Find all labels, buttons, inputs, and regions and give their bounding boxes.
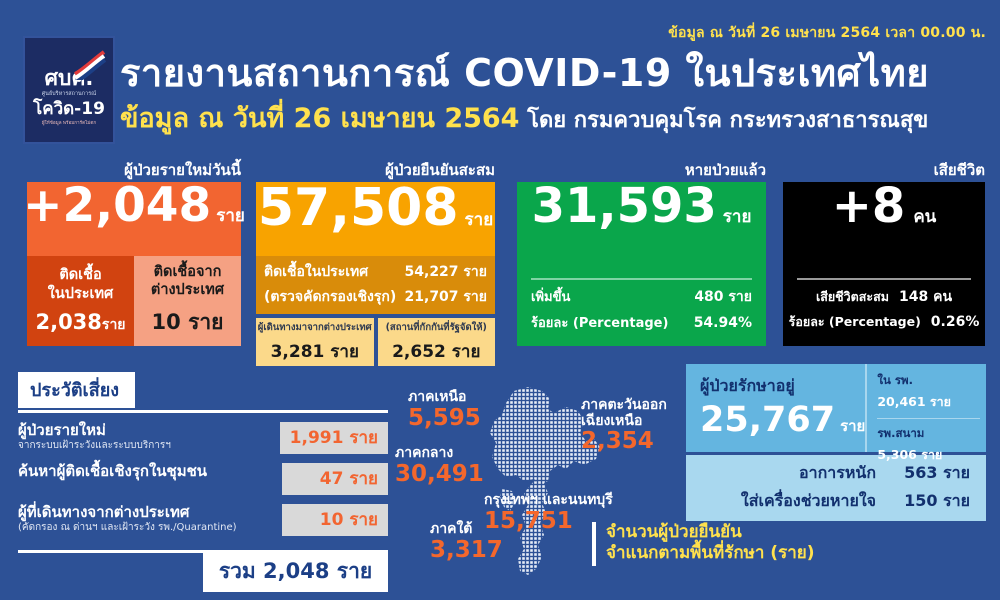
- treating-breakdown-label: ใน รพ.: [877, 372, 986, 390]
- treating-severe-value: 150 ราย: [892, 489, 970, 514]
- subtitle-source: โดย กรมควบคุมโรค กระทรวงสาธารณสุข: [519, 108, 928, 133]
- treating-heading: ผู้ป่วยรักษาอยู่: [700, 374, 865, 399]
- cumulative-rows: ติดเชื้อในประเทศ 54,227 ราย (ตรวจคัดกรอง…: [256, 256, 495, 314]
- risk-history-item-value: 10 ราย: [282, 504, 388, 536]
- deaths-row: เสียชีวิตสะสม 148 คน: [795, 286, 973, 308]
- risk-history-item-label: ค้นหาผู้ติดเชื้อเชิงรุกในชุมชน: [18, 463, 274, 480]
- treating-unit: ราย: [840, 414, 865, 438]
- cumulative-row: (ตรวจคัดกรองเชิงรุก) 21,707 ราย: [264, 286, 487, 308]
- risk-history-item: ผู้ที่เดินทางจากต่างประเทศ (คัดกรอง ณ ด่…: [18, 504, 388, 536]
- risk-history-item-label: ผู้ที่เดินทางจากต่างประเทศ: [18, 504, 274, 521]
- risk-history-item-sub: (คัดกรอง ณ ด่านฯ และเฝ้าระวัง รพ./Quaran…: [18, 522, 274, 534]
- new-cases-domestic: ติดเชื้อ ในประเทศ 2,038ราย: [27, 256, 134, 346]
- risk-history-top-divider: [18, 410, 388, 413]
- new-cases-domestic-value-wrap: 2,038ราย: [35, 310, 125, 336]
- recovered-value: 31,593: [532, 182, 717, 230]
- cumulative-row-label: (ตรวจคัดกรองเชิงรุก): [264, 286, 396, 308]
- cumulative-row-value: 54,227 ราย: [405, 261, 487, 283]
- treating-severe-row: อาการหนัก 563 ราย: [702, 461, 970, 486]
- treating-breakdown-label: รพ.สนาม: [877, 425, 986, 443]
- cumulative-unit: ราย: [465, 206, 494, 233]
- new-cases-imported-label-2: ต่างประเทศ: [151, 281, 224, 299]
- new-cases-domestic-value: 2,038: [35, 310, 101, 334]
- deaths-row-label: ร้อยละ (Percentage): [789, 312, 921, 332]
- risk-history-item-text: ผู้ที่เดินทางจากต่างประเทศ (คัดกรอง ณ ด่…: [18, 504, 282, 534]
- new-cases-domestic-unit: ราย: [102, 317, 126, 333]
- new-cases-domestic-label-1: ติดเชื้อ: [59, 266, 101, 284]
- risk-history-item-label: ผู้ป่วยรายใหม่: [18, 422, 272, 439]
- cumulative-row: ติดเชื้อในประเทศ 54,227 ราย: [264, 261, 487, 283]
- risk-history-item: ค้นหาผู้ติดเชื้อเชิงรุกในชุมชน 47 ราย: [18, 463, 388, 495]
- cumulative-row-label: ติดเชื้อในประเทศ: [264, 261, 368, 283]
- treating-panel: ผู้ป่วยรักษาอยู่ 25,767 ราย ใน รพ. 20,46…: [686, 364, 986, 521]
- risk-history-total: รวม 2,048 ราย: [203, 552, 388, 592]
- deaths-row-value: 0.26%: [931, 314, 980, 330]
- deaths-unit: คน: [913, 203, 936, 230]
- new-cases-value: +2,048: [23, 182, 211, 229]
- cumulative-sub-boxes: ผู้เดินทางมาจากต่างประเทศ 3,281 ราย (สถา…: [256, 318, 495, 366]
- region-bangkok-label: กรุงเทพฯ และนนทบุรี: [484, 493, 613, 509]
- region-northeast-label-2: เฉียงเหนือ: [581, 414, 667, 430]
- risk-history-item-text: ผู้ป่วยรายใหม่ จากระบบเฝ้าระวังและระบบบร…: [18, 422, 280, 452]
- page-title: รายงานสถานการณ์ COVID-19 ในประเทศไทย: [120, 42, 929, 103]
- risk-history-item-value: 47 ราย: [282, 463, 388, 495]
- recovered-row-label: เพิ่มขึ้น: [531, 286, 570, 307]
- region-south: ภาคใต้ 3,317: [430, 522, 503, 563]
- card-deaths: +8 คน เสียชีวิตสะสม 148 คน ร้อยละ (Perce…: [783, 182, 985, 346]
- treating-value-block: 25,767 ราย: [700, 403, 865, 438]
- deaths-row-label: เสียชีวิตสะสม: [816, 287, 889, 307]
- deaths-value: +8: [832, 182, 906, 230]
- new-cases-unit: ราย: [216, 202, 245, 229]
- subtitle-date: ข้อมูล ณ วันที่ 26 เมษายน 2564: [120, 103, 519, 134]
- recovered-row: ร้อยละ (Percentage) 54.94%: [531, 312, 752, 333]
- map-caption-line-2: จำแนกตามพื้นที่รักษา (ราย): [606, 543, 814, 564]
- new-cases-imported-label-1: ติดเชื้อจาก: [154, 263, 222, 281]
- card-cumulative: 57,508 ราย ติดเชื้อในประเทศ 54,227 ราย (…: [256, 182, 495, 366]
- treating-severe-label: อาการหนัก: [799, 461, 876, 486]
- cumulative-value: 57,508: [258, 182, 459, 234]
- risk-history-title: ประวัติเสี่ยง: [18, 372, 135, 408]
- treating-breakdown-divider: [877, 418, 980, 419]
- treating-severe-value: 563 ราย: [892, 461, 970, 486]
- treating-severe-label: ใส่เครื่องช่วยหายใจ: [741, 489, 876, 514]
- new-cases-domestic-label-2: ในประเทศ: [48, 285, 114, 303]
- agency-logo: ศบค. ศูนย์บริหารสถานการณ์ โควิด-19 ผู้ให…: [23, 36, 115, 144]
- new-cases-value-block: +2,048 ราย: [27, 182, 241, 256]
- cumulative-sub-label: (สถานที่กักกันที่รัฐจัดให้): [386, 320, 487, 335]
- recovered-row-value: 480 ราย: [694, 286, 752, 308]
- region-northeast-value: 2,354: [581, 429, 667, 454]
- region-northeast-label-1: ภาคตะวันออก: [581, 398, 667, 414]
- new-cases-breakdown: ติดเชื้อ ในประเทศ 2,038ราย ติดเชื้อจาก ต…: [27, 256, 241, 346]
- logo-line-2: ศูนย์บริหารสถานการณ์: [42, 91, 97, 97]
- card-recovered: 31,593 ราย เพิ่มขึ้น 480 ราย ร้อยละ (Per…: [517, 182, 766, 346]
- cumulative-sub-value: 2,652 ราย: [392, 338, 480, 365]
- treating-severe: อาการหนัก 563 ราย ใส่เครื่องช่วยหายใจ 15…: [686, 455, 986, 521]
- data-timestamp: ข้อมูล ณ วันที่ 26 เมษายน 2564 เวลา 00.0…: [668, 22, 986, 44]
- region-north: ภาคเหนือ 5,595: [408, 390, 481, 431]
- logo-line-4: ผู้ให้ข้อมูล พร้อมการ์ดไม่ตก: [42, 121, 96, 126]
- region-central-value: 30,491: [395, 462, 484, 487]
- risk-history-item-value: 1,991 ราย: [280, 422, 388, 454]
- risk-history-panel: ประวัติเสี่ยง ผู้ป่วยรายใหม่ จากระบบเฝ้า…: [18, 372, 388, 592]
- recovered-unit: ราย: [723, 203, 752, 230]
- new-cases-imported-value: 10 ราย: [152, 306, 224, 339]
- risk-history-item-text: ค้นหาผู้ติดเชื้อเชิงรุกในชุมชน: [18, 463, 282, 480]
- recovered-rows: เพิ่มขึ้น 480 ราย ร้อยละ (Percentage) 54…: [517, 280, 766, 333]
- thai-flag-ribbon-icon: [73, 50, 107, 80]
- region-north-value: 5,595: [408, 406, 481, 431]
- map-caption-bar: [592, 522, 596, 566]
- map-caption-line-1: จำนวนผู้ป่วยยืนยัน: [606, 522, 814, 543]
- region-central-label: ภาคกลาง: [395, 446, 484, 462]
- map-caption-text: จำนวนผู้ป่วยยืนยัน จำแนกตามพื้นที่รักษา …: [606, 522, 814, 565]
- infographic-root: ข้อมูล ณ วันที่ 26 เมษายน 2564 เวลา 00.0…: [0, 0, 1000, 600]
- region-northeast: ภาคตะวันออก เฉียงเหนือ 2,354: [581, 398, 667, 455]
- recovered-row-value: 54.94%: [694, 315, 752, 331]
- treating-value: 25,767: [700, 403, 835, 438]
- recovered-row-label: ร้อยละ (Percentage): [531, 312, 668, 333]
- recovered-row: เพิ่มขึ้น 480 ราย: [531, 286, 752, 308]
- region-north-label: ภาคเหนือ: [408, 390, 481, 406]
- region-south-value: 3,317: [430, 538, 503, 563]
- deaths-value-block: +8 คน: [783, 182, 985, 278]
- cumulative-sub-label: ผู้เดินทางมาจากต่างประเทศ: [258, 320, 372, 335]
- treating-severe-row: ใส่เครื่องช่วยหายใจ 150 ราย: [702, 489, 970, 514]
- deaths-row-value: 148 คน: [899, 286, 952, 308]
- cumulative-sub-box: (สถานที่กักกันที่รัฐจัดให้) 2,652 ราย: [378, 318, 496, 366]
- cumulative-value-block: 57,508 ราย: [256, 182, 495, 256]
- region-south-label: ภาคใต้: [430, 522, 503, 538]
- deaths-rows: เสียชีวิตสะสม 148 คน ร้อยละ (Percentage)…: [783, 280, 985, 332]
- treating-main: ผู้ป่วยรักษาอยู่ 25,767 ราย: [686, 364, 865, 452]
- region-central: ภาคกลาง 30,491: [395, 446, 484, 487]
- card-new-cases: +2,048 ราย ติดเชื้อ ในประเทศ 2,038ราย ติ…: [27, 182, 241, 346]
- new-cases-imported: ติดเชื้อจาก ต่างประเทศ 10 ราย: [134, 256, 241, 346]
- map-caption: จำนวนผู้ป่วยยืนยัน จำแนกตามพื้นที่รักษา …: [592, 522, 814, 566]
- cumulative-row-value: 21,707 ราย: [405, 286, 487, 308]
- logo-line-3: โควิด-19: [33, 101, 105, 118]
- cumulative-sub-value: 3,281 ราย: [271, 338, 359, 365]
- cumulative-sub-box: ผู้เดินทางมาจากต่างประเทศ 3,281 ราย: [256, 318, 374, 366]
- page-subtitle: ข้อมูล ณ วันที่ 26 เมษายน 2564 โดย กรมคว…: [120, 96, 928, 139]
- recovered-value-block: 31,593 ราย: [517, 182, 766, 278]
- deaths-row: ร้อยละ (Percentage) 0.26%: [795, 312, 973, 332]
- treating-top: ผู้ป่วยรักษาอยู่ 25,767 ราย ใน รพ. 20,46…: [686, 364, 986, 452]
- treating-breakdown-item: รพ.สนาม 5,306 ราย: [877, 425, 986, 465]
- treating-breakdown-item: ใน รพ. 20,461 ราย: [877, 372, 986, 412]
- risk-history-item-sub: จากระบบเฝ้าระวังและระบบบริการฯ: [18, 440, 272, 452]
- treating-breakdown: ใน รพ. 20,461 ราย รพ.สนาม 5,306 ราย: [865, 364, 986, 452]
- risk-history-item: ผู้ป่วยรายใหม่ จากระบบเฝ้าระวังและระบบบร…: [18, 422, 388, 454]
- treating-breakdown-value: 20,461 ราย: [877, 392, 986, 412]
